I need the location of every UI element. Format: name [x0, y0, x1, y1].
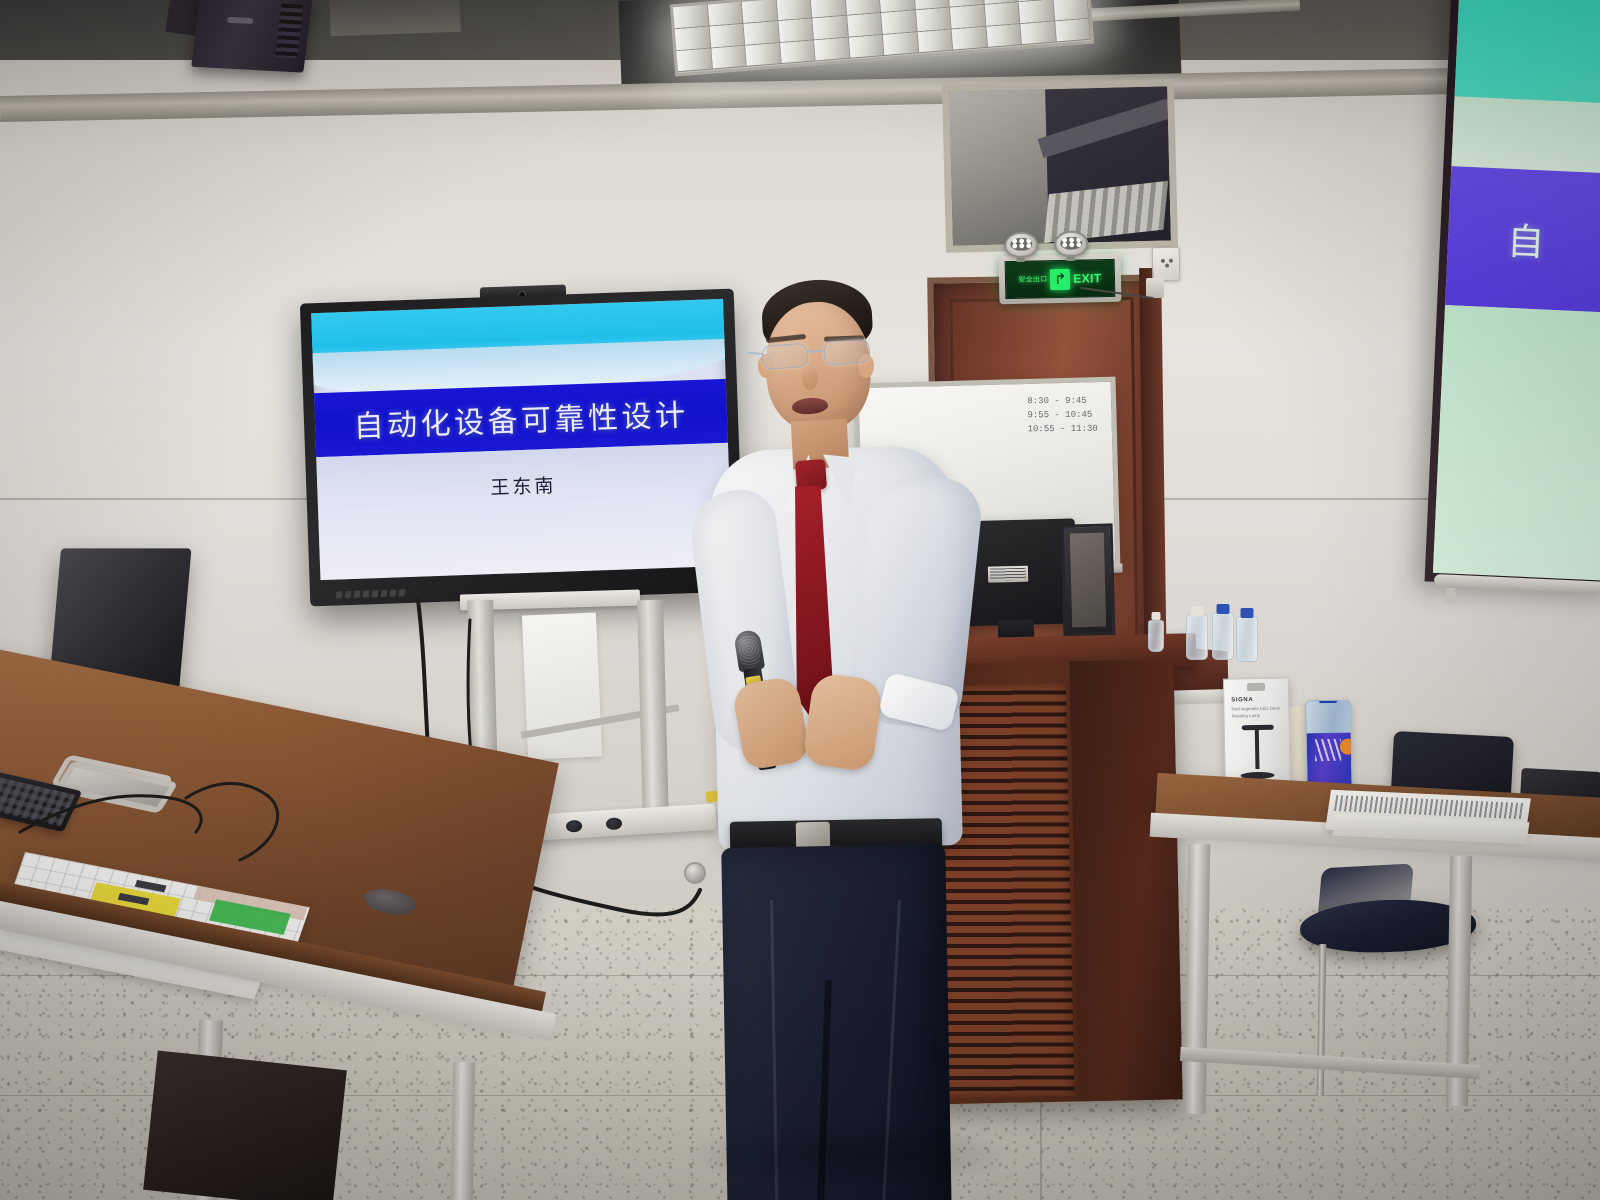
monitor-spec-label [988, 566, 1028, 583]
projection-surface: 自 [1433, 0, 1600, 581]
drink-label-accent [1340, 739, 1353, 755]
transom-window [942, 79, 1178, 253]
under-desk-shadow-box [143, 1050, 347, 1200]
presenter-nose [802, 366, 818, 390]
tv-screen: 自动化设备可靠性设计 王东南 [311, 299, 732, 580]
water-bottle-2 [1212, 612, 1234, 660]
presenter-hand-gesturing [802, 672, 884, 773]
emergency-lamp-right [1054, 230, 1089, 257]
presenter-floor-shadow [690, 1120, 1010, 1190]
product-brand-label: SIGNA [1231, 697, 1253, 703]
photo-scene: 安全出口 ↱ EXIT 8:30 - 9:45 9:55 - 10:45 10:… [0, 0, 1600, 1200]
running-person-icon: ↱ [1050, 268, 1070, 289]
left-desk-leg-back [451, 1062, 475, 1200]
smart-tv-display[interactable]: 自动化设备可靠性设计 王东南 [300, 289, 744, 607]
exit-sign-chinese-label: 安全出口 [1018, 274, 1047, 285]
transom-pane-left [949, 89, 1053, 245]
emergency-lamp-left [1004, 231, 1039, 258]
projection-title-band: 自 [1445, 166, 1600, 313]
drink-bottle-cap [1319, 700, 1337, 704]
projection-body [1433, 305, 1600, 580]
small-bottle [1148, 620, 1164, 652]
wall-speaker [191, 0, 313, 73]
podium-right-side [1069, 659, 1182, 1101]
box-hanging-tab [1247, 683, 1265, 691]
emergency-exit-sign: 安全出口 ↱ EXIT [999, 254, 1122, 305]
projection-screen-pull-knob[interactable] [1446, 588, 1456, 604]
framed-panel [1061, 523, 1116, 636]
projection-title-fragment: 自 [1506, 211, 1545, 267]
slide-author: 王东南 [317, 465, 730, 506]
right-desk-leg-front [1184, 844, 1211, 1114]
lamp-illustration [1238, 725, 1277, 780]
product-subtitle: Rechargeable LED Desk Reading Lamp [1231, 705, 1288, 719]
exit-sign-face: 安全出口 ↱ EXIT [1005, 259, 1116, 299]
wall-power-outlet[interactable] [1152, 247, 1181, 281]
whiteboard-schedule-notes: 8:30 - 9:45 9:55 - 10:45 10:55 - 11:30 [1027, 395, 1098, 437]
projection-screen: 自 [1424, 0, 1600, 590]
ceiling-vent [329, 0, 460, 36]
speaker-port [227, 17, 254, 24]
power-plug [1146, 278, 1164, 298]
exit-sign-english-label: EXIT [1073, 271, 1102, 286]
speaker-grille [275, 4, 304, 59]
slide-title: 自动化设备可靠性设计 [353, 390, 689, 446]
presenter [700, 280, 990, 1200]
water-bottle-1 [1186, 614, 1208, 660]
water-bottle-3 [1236, 616, 1258, 662]
